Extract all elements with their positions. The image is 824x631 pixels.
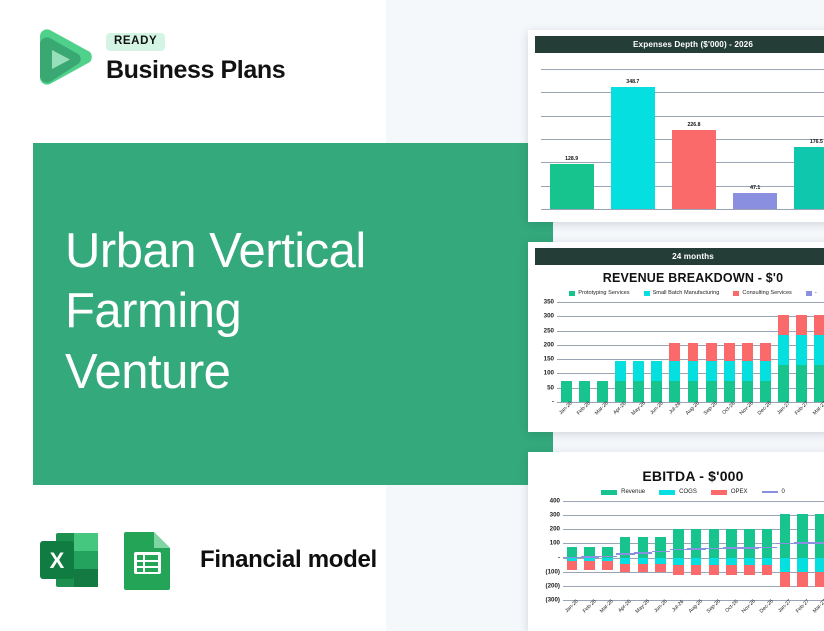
legend-swatch-icon [711, 490, 727, 495]
stacked-bar-segment [815, 572, 824, 587]
legend-item: OPEX [711, 489, 748, 495]
stacked-bar-segment [706, 381, 717, 402]
stacked-bar-segment [724, 361, 735, 381]
ebitda-chart-card: EBITDA - $'000 RevenueCOGSOPEX0 40030020… [528, 452, 824, 631]
y-axis-tick: 50 [547, 384, 554, 391]
y-axis-tick: 150 [544, 356, 554, 363]
stacked-bar-segment [579, 381, 590, 402]
y-axis-tick: 350 [544, 299, 554, 306]
stacked-bar-segment [615, 381, 626, 402]
expenses-plot-area: 128.9348.7226.847.1176.5 [541, 69, 824, 209]
zero-reference-line [634, 552, 652, 554]
expenses-chart-header: Expenses Depth ($'000) - 2026 [535, 36, 824, 53]
stacked-bar-segment [760, 343, 771, 360]
revenue-chart-title: REVENUE BREAKDOWN - $'0 [535, 271, 824, 285]
brand-text: READY Business Plans [106, 31, 285, 83]
stacked-bar-segment [760, 381, 771, 402]
stacked-bar-segment [561, 381, 572, 402]
legend-label: Consulting Services [742, 290, 791, 296]
bar-value-label: 176.5 [810, 139, 823, 145]
stacked-bar-segment [744, 529, 755, 558]
revenue-plot-area: 35030025020015010050-Jan-26Feb-26Mar-26A… [557, 302, 824, 402]
stacked-bar-segment [742, 361, 753, 381]
zero-reference-line [616, 553, 634, 555]
stacked-bar-segment [780, 514, 791, 557]
stacked-bar-segment [742, 343, 753, 360]
stacked-bar-segment [724, 343, 735, 360]
stacked-bar-segment [651, 381, 662, 402]
stacked-bar-segment [797, 572, 808, 587]
stacked-bar-segment [709, 529, 720, 558]
stacked-bar-segment [597, 381, 608, 402]
bar-value-label: 226.8 [688, 122, 701, 128]
stacked-bar-segment [760, 361, 771, 381]
zero-reference-line [723, 547, 741, 549]
stacked-bar-segment [780, 572, 791, 587]
legend-swatch-icon [569, 291, 575, 296]
stacked-bar-segment [742, 381, 753, 402]
stacked-bar-segment [633, 381, 644, 402]
stacked-bar-segment [778, 365, 789, 402]
expenses-chart-card: Expenses Depth ($'000) - 2026 128.9348.7… [528, 30, 824, 222]
stacked-bar-segment [638, 564, 649, 572]
stacked-bar-segment [778, 315, 789, 336]
stacked-bar-segment [669, 381, 680, 402]
svg-text:X: X [50, 548, 65, 573]
stacked-bar-segment [584, 561, 595, 569]
legend-item: Prototyping Services [569, 290, 629, 296]
ebitda-plot-area: 400300200100-(100)(200)(300)Jan-26Feb-26… [563, 501, 824, 600]
ready-badge: READY [106, 33, 165, 51]
stacked-bar-segment [688, 343, 699, 360]
hero-card: Urban Vertical Farming Venture [33, 143, 553, 485]
stacked-bar-segment [673, 565, 684, 575]
stacked-bar-segment [673, 529, 684, 558]
gridline [541, 209, 824, 210]
stacked-bar-segment [797, 514, 808, 557]
zero-reference-line [812, 542, 824, 544]
legend-item: Small Batch Manufacturing [644, 290, 720, 296]
y-axis-tick: 100 [550, 540, 560, 547]
y-axis-tick: - [558, 554, 560, 561]
stacked-bar-segment [615, 361, 626, 381]
stacked-bar-segment [691, 558, 702, 566]
legend-swatch-icon [733, 291, 739, 296]
stacked-bar-segment [814, 365, 824, 402]
y-axis-tick: 200 [550, 526, 560, 533]
stacked-bar-segment [638, 537, 649, 558]
gridline [541, 92, 824, 93]
bar-value-label: 128.9 [565, 156, 578, 162]
stacked-bar-segment [620, 564, 631, 572]
revenue-chart-header: 24 months [535, 248, 824, 265]
stacked-bar-segment [709, 558, 720, 566]
legend-item: 0 [762, 489, 785, 495]
zero-reference-line [705, 548, 723, 550]
stacked-bar-segment [778, 335, 789, 365]
ebitda-chart-title: EBITDA - $'000 [535, 468, 824, 484]
legend-item: Consulting Services [733, 290, 791, 296]
stacked-bar-segment [567, 561, 578, 569]
stacked-bar-segment [726, 529, 737, 558]
legend-label: - [815, 290, 817, 296]
page-root: READY Business Plans Urban Vertical Farm… [0, 0, 824, 631]
stacked-bar-segment [709, 565, 720, 575]
legend-swatch-icon [806, 291, 812, 296]
legend-label: Revenue [621, 489, 645, 495]
legend-label: OPEX [731, 489, 748, 495]
zero-reference-line [687, 548, 705, 550]
stacked-bar-segment [691, 529, 702, 558]
zero-reference-line [599, 556, 617, 558]
stacked-bar-segment [655, 537, 666, 558]
zero-reference-line [563, 557, 581, 559]
legend-item: COGS [659, 489, 697, 495]
stacked-bar-segment [796, 315, 807, 336]
bar-value-label: 348.7 [626, 79, 639, 85]
stacked-bar-segment [814, 335, 824, 365]
y-axis-tick: (300) [546, 597, 560, 604]
stacked-bar-segment [744, 558, 755, 566]
legend-label: Prototyping Services [578, 290, 629, 296]
ebitda-chart-legend: RevenueCOGSOPEX0 [535, 489, 824, 495]
zero-reference-line [758, 547, 776, 549]
legend-item: - [806, 290, 817, 296]
stacked-bar-segment [673, 558, 684, 566]
stacked-bar-segment [744, 565, 755, 575]
bar [672, 130, 716, 209]
gridline [541, 69, 824, 70]
bar [611, 87, 655, 209]
stacked-bar-segment [796, 335, 807, 365]
brand-name: Business Plans [106, 58, 285, 83]
y-axis-tick: 400 [550, 498, 560, 505]
legend-swatch-icon [659, 490, 675, 495]
stacked-bar-segment [726, 558, 737, 566]
y-axis-tick: (200) [546, 582, 560, 589]
zero-reference-line [776, 543, 794, 545]
legend-label: COGS [679, 489, 697, 495]
legend-swatch-icon [644, 291, 650, 296]
stacked-bar-segment [651, 361, 662, 381]
zero-reference-line [652, 551, 670, 553]
y-axis-tick: 200 [544, 341, 554, 348]
zero-reference-line [581, 556, 599, 558]
stacked-bar-segment [815, 558, 824, 573]
legend-item: Revenue [601, 489, 645, 495]
financial-model-label: Financial model [200, 546, 377, 574]
page-title: Urban Vertical Farming Venture [65, 221, 505, 402]
stacked-bar-segment [814, 315, 824, 336]
stacked-bar-segment [688, 361, 699, 381]
stacked-bar-segment [797, 558, 808, 573]
zero-reference-line [741, 547, 759, 549]
y-axis-tick: - [552, 399, 554, 406]
gridline [557, 302, 824, 303]
x-axis-tick: Jul-26 [671, 599, 685, 613]
legend-swatch-icon [601, 490, 617, 495]
y-axis-tick: 300 [550, 512, 560, 519]
stacked-bar-segment [724, 381, 735, 402]
stacked-bar-segment [762, 529, 773, 558]
revenue-chart-card: 24 months REVENUE BREAKDOWN - $'0 Protot… [528, 242, 824, 432]
zero-reference-line [794, 542, 812, 544]
zero-reference-line [670, 549, 688, 551]
y-axis-tick: 100 [544, 370, 554, 377]
brand-logo-block: READY Business Plans [34, 26, 285, 88]
stacked-bar-segment [688, 381, 699, 402]
footer-formats: X Financial model [36, 525, 377, 595]
stacked-bar-segment [602, 561, 613, 569]
legend-label: 0 [782, 489, 785, 495]
play-triangle-logo-icon [34, 26, 94, 88]
stacked-bar-segment [655, 564, 666, 572]
x-axis-tick: Jul-26 [668, 401, 682, 415]
bar [550, 164, 594, 209]
stacked-bar-segment [669, 343, 680, 360]
stacked-bar-segment [669, 361, 680, 381]
revenue-chart-legend: Prototyping ServicesSmall Batch Manufact… [535, 290, 824, 296]
stacked-bar-segment [815, 514, 824, 557]
y-axis-tick: 300 [544, 313, 554, 320]
stacked-bar-segment [780, 558, 791, 573]
stacked-bar-segment [762, 558, 773, 566]
google-sheets-file-icon [112, 525, 182, 595]
stacked-bar-segment [706, 343, 717, 360]
gridline [563, 501, 824, 502]
y-axis-tick: (100) [546, 568, 560, 575]
stacked-bar-segment [726, 565, 737, 575]
stacked-bar-segment [762, 565, 773, 575]
y-axis-tick: 250 [544, 327, 554, 334]
bar-value-label: 47.1 [750, 185, 760, 191]
bar [733, 193, 777, 209]
stacked-bar-segment [796, 365, 807, 402]
legend-label: Small Batch Manufacturing [653, 290, 720, 296]
legend-swatch-icon [762, 491, 778, 493]
stacked-bar-segment [633, 361, 644, 381]
stacked-bar-segment [691, 565, 702, 575]
stacked-bar-segment [706, 361, 717, 381]
bar [794, 147, 824, 209]
gridline [541, 116, 824, 117]
excel-file-icon: X [36, 525, 106, 595]
